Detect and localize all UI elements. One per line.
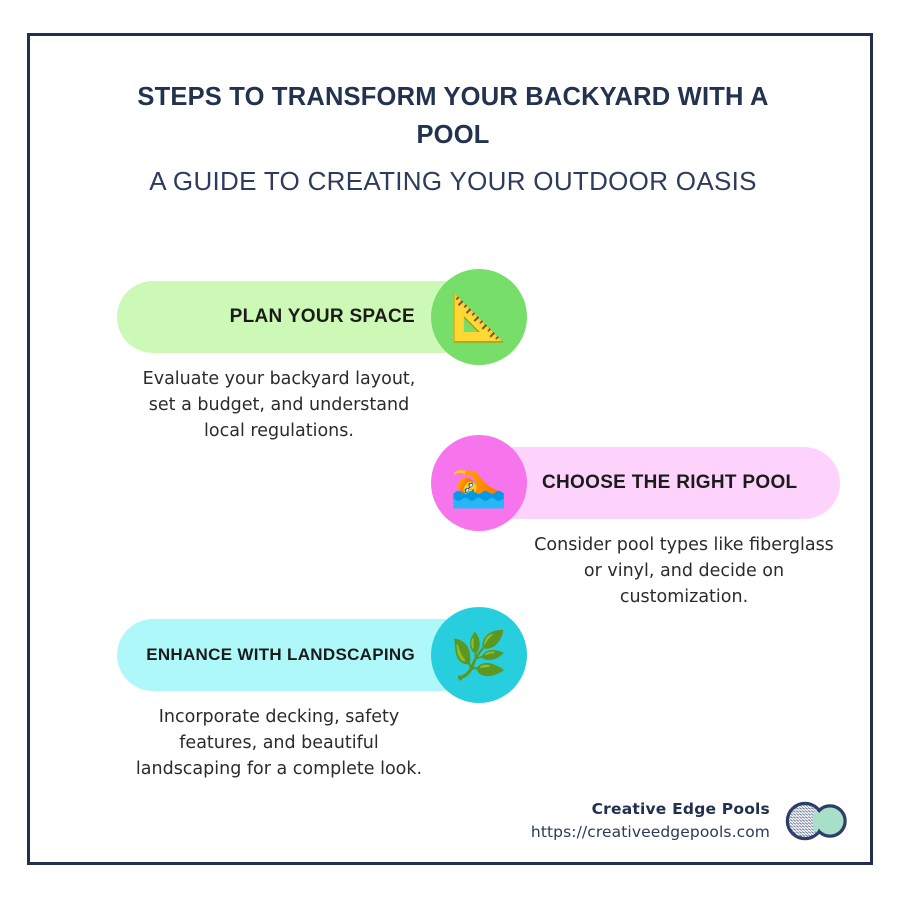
- swimmer-icon: 🏊: [431, 435, 527, 531]
- step-description-1: Evaluate your backyard layout, set a bud…: [134, 366, 424, 444]
- herb-leaf-glyph: 🌿: [450, 632, 507, 678]
- page-title: STEPS TO TRANSFORM YOUR BACKYARD WITH A …: [120, 78, 786, 154]
- step-pill-2[interactable]: CHOOSE THE RIGHT POOL: [480, 447, 840, 519]
- step-pill-1[interactable]: PLAN YOUR SPACE: [117, 281, 477, 353]
- step-label-1: PLAN YOUR SPACE: [230, 306, 415, 328]
- step-label-3: ENHANCE WITH LANDSCAPING: [146, 645, 415, 665]
- footer-text-block: Creative Edge Pools https://creativeedge…: [531, 798, 770, 844]
- footer-branding: Creative Edge Pools https://creativeedge…: [490, 798, 850, 844]
- step-label-2: CHOOSE THE RIGHT POOL: [542, 472, 797, 494]
- title-block: STEPS TO TRANSFORM YOUR BACKYARD WITH A …: [120, 78, 786, 200]
- brand-url[interactable]: https://creativeedgepools.com: [531, 820, 770, 844]
- step-description-3: Incorporate decking, safety features, an…: [134, 704, 424, 782]
- swimmer-glyph: 🏊: [450, 460, 507, 506]
- pools-peanut-logo-icon: [784, 798, 850, 844]
- infographic-frame: STEPS TO TRANSFORM YOUR BACKYARD WITH A …: [27, 33, 873, 865]
- step-pill-3[interactable]: ENHANCE WITH LANDSCAPING: [117, 619, 477, 691]
- triangular-ruler-glyph: 📐: [450, 294, 507, 340]
- infographic-canvas: STEPS TO TRANSFORM YOUR BACKYARD WITH A …: [0, 0, 900, 900]
- step-description-2: Consider pool types like fiberglass or v…: [534, 532, 834, 610]
- triangular-ruler-icon: 📐: [431, 269, 527, 365]
- brand-name: Creative Edge Pools: [531, 798, 770, 820]
- herb-leaf-icon: 🌿: [431, 607, 527, 703]
- page-subtitle: A GUIDE TO CREATING YOUR OUTDOOR OASIS: [120, 162, 786, 200]
